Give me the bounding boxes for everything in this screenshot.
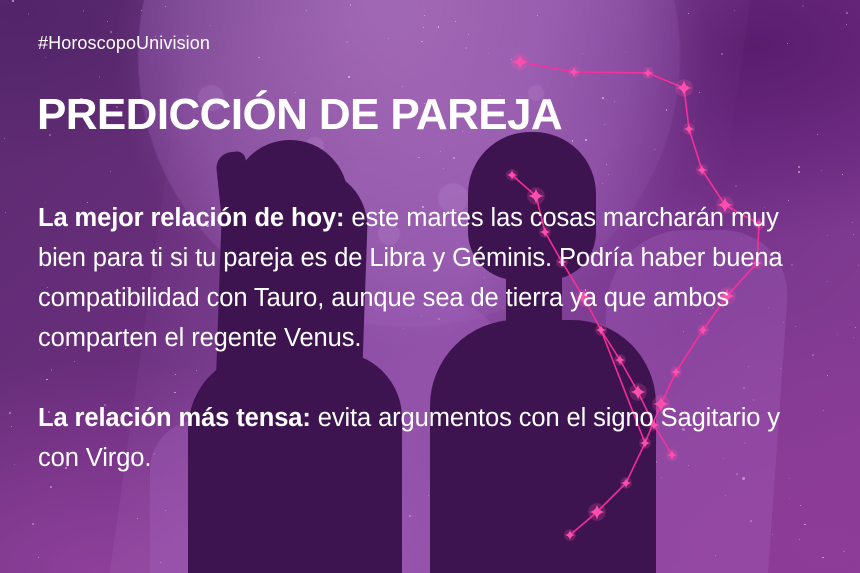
card-content: #HoroscopoUnivision PREDICCIÓN DE PAREJA… — [0, 0, 860, 573]
paragraph-lead-label: La relación más tensa: — [38, 404, 311, 432]
horoscope-card: #HoroscopoUnivision PREDICCIÓN DE PAREJA… — [0, 0, 860, 573]
page-title: PREDICCIÓN DE PAREJA — [37, 93, 562, 137]
paragraph-best-relationship: La mejor relación de hoy: este martes la… — [38, 198, 826, 358]
paragraph-lead-label: La mejor relación de hoy: — [38, 204, 344, 232]
horoscope-body: La mejor relación de hoy: este martes la… — [38, 198, 826, 478]
hashtag-label: #HoroscopoUnivision — [38, 33, 210, 54]
paragraph-tense-relationship: La relación más tensa: evita argumentos … — [38, 398, 826, 478]
